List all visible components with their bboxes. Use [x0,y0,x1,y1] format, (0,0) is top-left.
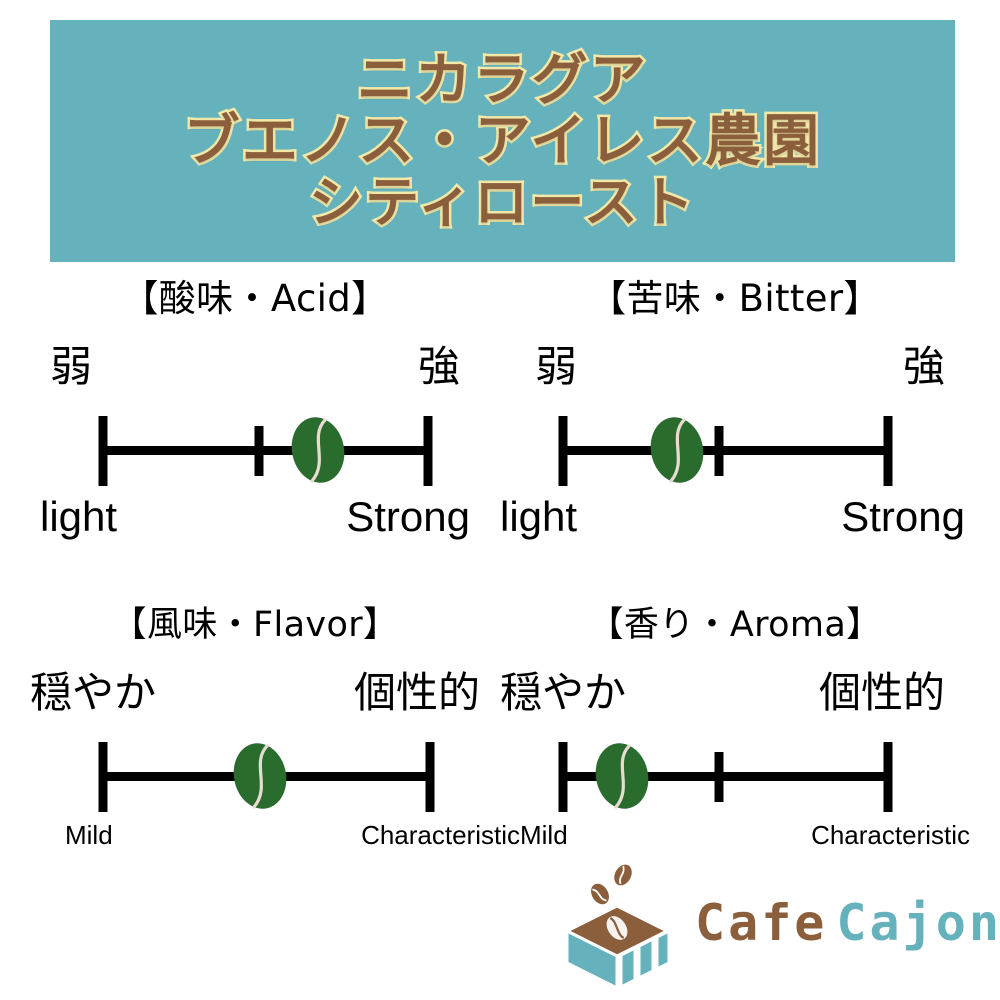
scale-title-aroma: 【香り・Aroma】 [500,596,970,647]
scale-title-bitter: 【苦味・Bitter】 [500,268,970,322]
scale-axis-aroma [563,734,888,814]
scale-axis-flavor [103,734,430,814]
scale-flavor-left-kanji: 穏やか [30,672,156,714]
scale-bitter-right-label: Strong [841,496,965,538]
scale-acid-right-label: Strong [346,496,470,538]
scale-bitter-left-label: light [500,496,577,538]
scale-panel-flavor: 【風味・Flavor】 穏やか 個性的 Mild Characteristic [20,596,490,896]
axis-tick-left [99,416,108,486]
bean-marker-flavor [231,741,289,811]
axis-tick-mid [255,426,264,476]
product-title-banner: ニカラグア ブエノス・アイレス農園 シティロースト [50,20,955,262]
brand-word-cafe: Cafe [695,894,827,952]
scale-axis-acid [103,408,428,488]
axis-tick-mid [715,752,724,802]
brand-logo: CafeCajon [545,862,995,994]
axis-tick-right [424,416,433,486]
bean-marker-bitter [648,415,706,485]
scale-panel-bitter: 【苦味・Bitter】 弱 強 light Strong [500,268,970,568]
scale-flavor-right-kanji: 個性的 [354,672,480,714]
product-roast-line: シティロースト [309,175,696,230]
bean-marker-aroma [593,741,651,811]
scale-aroma-left-label: Mild [520,822,568,848]
axis-tick-left [559,742,568,812]
axis-tick-right [426,742,435,812]
scale-flavor-right-label: Characteristic [361,822,520,848]
brand-wordmark: CafeCajon [695,898,1000,948]
axis-tick-right [884,742,893,812]
scale-axis-bitter [563,408,888,488]
product-farm-line: ブエノス・アイレス農園 [184,113,822,170]
scale-bitter-right-kanji: 強 [903,346,945,388]
axis-tick-mid [715,426,724,476]
scale-aroma-right-label: Characteristic [811,822,970,848]
scale-title-acid: 【酸味・Acid】 [20,268,490,322]
axis-tick-left [99,742,108,812]
scale-panel-aroma: 【香り・Aroma】 穏やか 個性的 Mild Characteristic [500,596,970,896]
brand-word-cajon: Cajon [836,894,1000,952]
scale-acid-left-kanji: 弱 [50,346,92,388]
axis-tick-right [884,416,893,486]
axis-tick-left [559,416,568,486]
axis-line [563,446,888,455]
product-origin-line: ニカラグア [357,52,648,109]
axis-line [103,446,428,455]
scale-panel-acid: 【酸味・Acid】 弱 強 light Strong [20,268,490,568]
bean-marker-acid [289,415,347,485]
scale-title-flavor: 【風味・Flavor】 [20,596,490,647]
scale-aroma-left-kanji: 穏やか [500,672,626,714]
scale-flavor-left-label: Mild [65,822,113,848]
scale-bitter-left-kanji: 弱 [535,346,577,388]
scale-acid-right-kanji: 強 [418,346,460,388]
scale-aroma-right-kanji: 個性的 [819,672,945,714]
coffee-box-icon [545,862,690,994]
scale-acid-left-label: light [40,496,117,538]
